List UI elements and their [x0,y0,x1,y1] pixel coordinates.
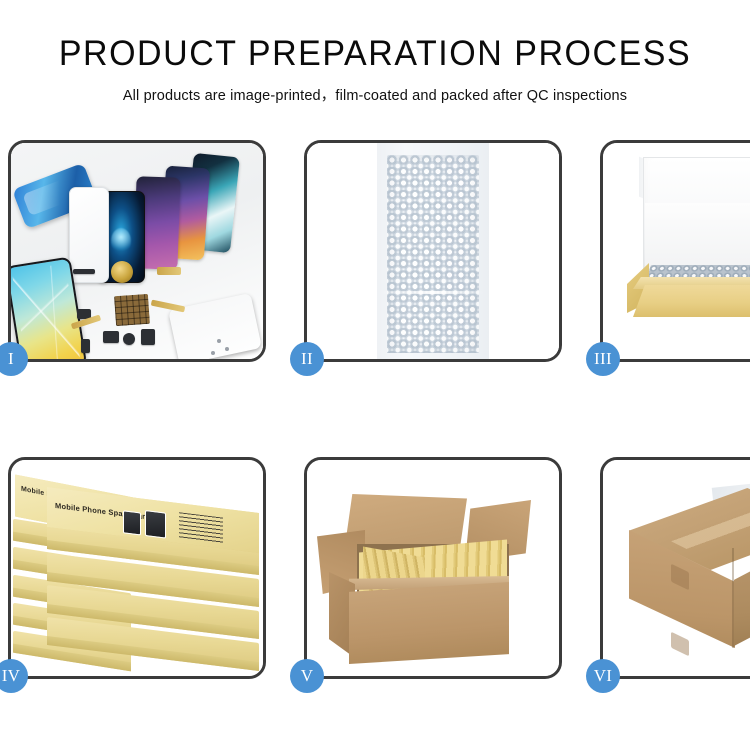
flex-cable-top [157,267,181,275]
step-panel-phone-screens-and-parts: I [8,140,266,362]
battery-connector-part [141,329,155,345]
sealed-carton-tab-lower [671,632,689,657]
page-subtitle: All products are image-printed，film-coat… [0,84,750,105]
vibrator-motor-part [123,333,135,345]
bubble-wrap-crease [381,291,485,294]
step-panel-stacked-retail-boxes: Mobile Phone Spare Parts Mobile Phone Sp… [8,457,266,679]
box-spec-lines [179,512,223,543]
step-badge-4: IV [0,659,28,693]
step-image-sealed-master-carton [603,460,750,676]
step-badge-2: II [290,342,324,376]
step-image-bubble-wrap-packing [307,143,559,359]
camera-module-part [103,331,119,343]
step-badge-1: I [0,342,28,376]
screw-2 [225,347,229,351]
step-badge-5: V [290,659,324,693]
page-header: PRODUCT PREPARATION PROCESS All products… [0,0,750,105]
earpiece-speaker-part [73,269,95,274]
screw-3 [211,351,215,355]
screw-1 [217,339,221,343]
step-panel-bubble-wrap-packing: II [304,140,562,362]
process-steps-grid: I II [8,140,742,679]
retail-box-stack: Mobile Phone Spare Parts Mobile Phone Sp… [13,482,263,676]
chip-grid-component [114,294,150,326]
wireless-charging-coil [111,261,133,283]
step-badge-6: VI [586,659,620,693]
step-image-master-carton-filling [307,460,559,676]
inner-box-foam-liner [645,203,750,269]
sealed-carton-corner-seam [732,548,734,648]
step-panel-master-carton-filling: V [304,457,562,679]
step-panel-sealed-master-carton: VI [600,457,750,679]
page-title: PRODUCT PREPARATION PROCESS [11,36,739,73]
carton-front-panel [349,582,509,664]
step-panel-inner-box-packing: III [600,140,750,362]
sim-tray-part [81,339,90,353]
inner-box-front-panel [633,285,750,317]
step-image-phone-screens-and-parts [11,143,263,359]
step-image-inner-box-packing [603,143,750,359]
box-product-thumbnail-2 [145,510,166,539]
bubble-wrap-bubbles-layer2 [387,161,479,353]
product-preparation-page: PRODUCT PREPARATION PROCESS All products… [0,0,750,750]
step-badge-3: III [586,342,620,376]
step-image-stacked-retail-boxes: Mobile Phone Spare Parts Mobile Phone Sp… [11,460,263,676]
box-product-thumbnail-1 [123,510,141,535]
